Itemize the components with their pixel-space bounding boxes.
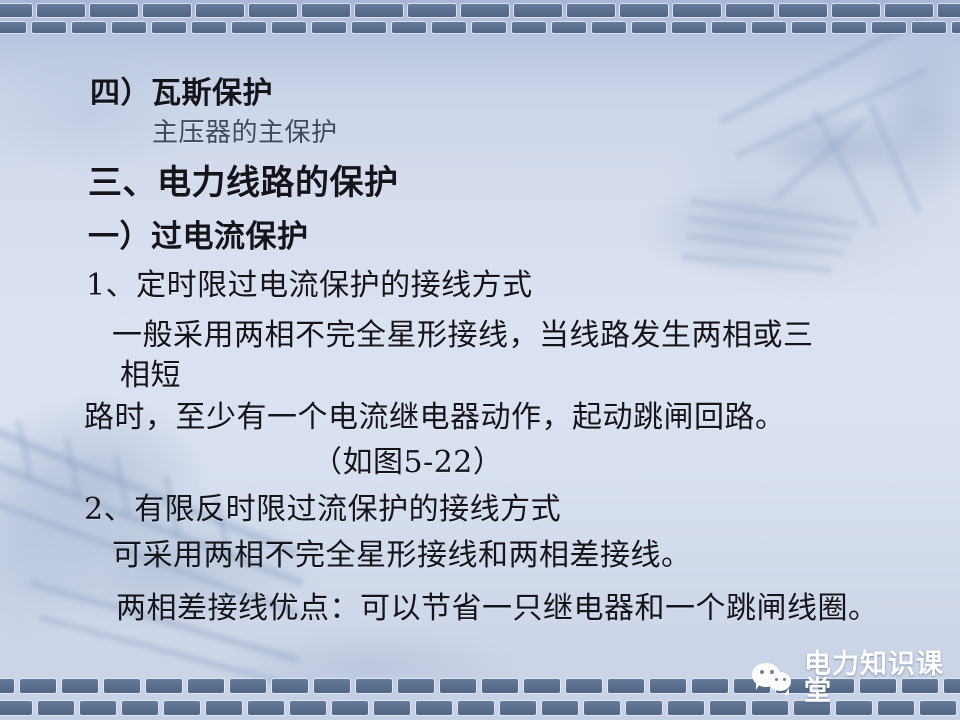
brick: [0, 701, 32, 715]
brick: [692, 679, 728, 693]
brick: [398, 679, 434, 693]
slide-text-body: 四）瓦斯保护主压器的主保护三、电力线路的保护一）过电流保护1、定时限过电流保护的…: [0, 0, 960, 720]
brick: [38, 701, 74, 715]
text-line-l4: 一）过电流保护: [88, 211, 309, 256]
brick: [332, 701, 368, 715]
wechat-account-name: 电力知识课堂: [804, 651, 960, 705]
brick: [146, 679, 182, 693]
brick: [584, 701, 620, 715]
text-line-l1: 四）瓦斯保护: [90, 68, 273, 112]
brick: [62, 679, 98, 693]
text-line-l10: 2、有限反时限过流保护的接线方式: [84, 484, 561, 528]
text-line-l11: 可采用两相不完全星形接线和两相差接线。: [112, 530, 692, 574]
brick: [542, 701, 578, 715]
brick: [482, 679, 518, 693]
text-line-l7: 相短: [120, 350, 181, 394]
brick: [20, 679, 56, 693]
brick: [710, 701, 746, 715]
brick: [752, 701, 788, 715]
brick: [206, 701, 242, 715]
brick: [500, 701, 536, 715]
text-line-l3: 三、电力线路的保护: [88, 155, 399, 204]
brick: [440, 679, 476, 693]
text-line-l8: 路时，至少有一个电流继电器动作，起动跳闸回路。: [84, 392, 786, 436]
brick: [374, 701, 410, 715]
brick: [650, 679, 686, 693]
brick: [188, 679, 224, 693]
wechat-logo-icon: [752, 661, 796, 695]
brick: [290, 701, 326, 715]
brick: [0, 679, 14, 693]
text-line-l5: 1、定时限过电流保护的接线方式: [86, 260, 533, 304]
brick: [104, 679, 140, 693]
brick: [356, 679, 392, 693]
brick: [272, 679, 308, 693]
text-line-l6: 一般采用两相不完全星形接线，当线路发生两相或三: [112, 310, 814, 354]
text-line-l12: 两相差接线优点：可以节省一只继电器和一个跳闸线圈。: [116, 583, 879, 627]
brick: [314, 679, 350, 693]
brick: [122, 701, 158, 715]
brick: [230, 679, 266, 693]
text-line-l2: 主压器的主保护: [152, 112, 338, 149]
brick: [626, 701, 662, 715]
brick: [248, 701, 284, 715]
text-line-l9: （如图5-22）: [312, 437, 503, 481]
brick: [668, 701, 704, 715]
wechat-watermark: 电力知识课堂: [752, 658, 960, 698]
brick: [458, 701, 494, 715]
brick: [524, 679, 560, 693]
brick: [164, 701, 200, 715]
brick: [80, 701, 116, 715]
presentation-slide: 四）瓦斯保护主压器的主保护三、电力线路的保护一）过电流保护1、定时限过电流保护的…: [0, 0, 960, 720]
brick: [566, 679, 602, 693]
brick: [608, 679, 644, 693]
brick: [416, 701, 452, 715]
